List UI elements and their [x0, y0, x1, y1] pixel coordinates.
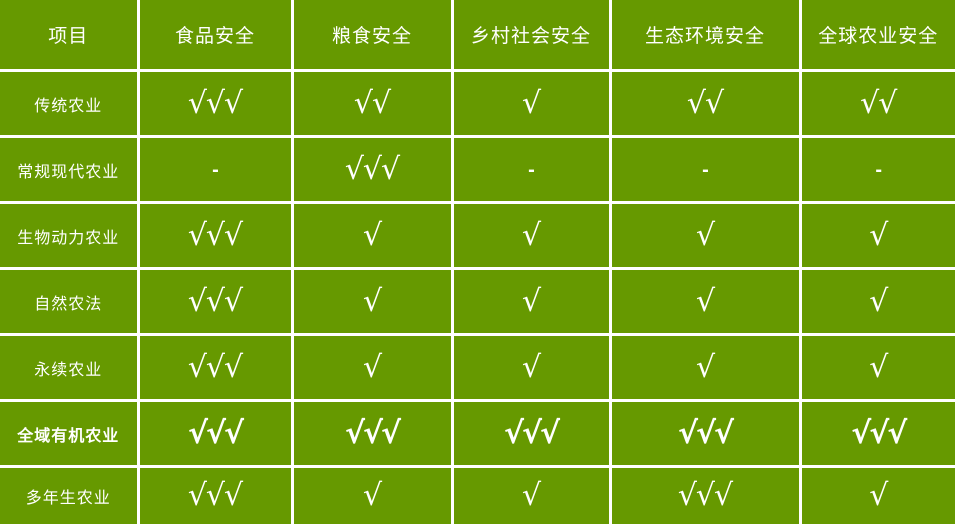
rating-cell: √: [800, 467, 955, 524]
rating-cell: √: [800, 269, 955, 335]
table-header: 项目 食品安全 粮食安全 乡村社会安全 生态环境安全 全球农业安全: [0, 0, 955, 71]
rating-cell: √: [452, 467, 610, 524]
rating-cell: √√√: [610, 467, 800, 524]
rating-cell: √√√: [452, 401, 610, 467]
rating-cell: √√√: [138, 467, 292, 524]
rating-cell: √√√: [138, 203, 292, 269]
table-row: 自然农法√√√√√√√: [0, 269, 955, 335]
rating-cell: √: [292, 335, 452, 401]
agriculture-security-comparison-table: 项目 食品安全 粮食安全 乡村社会安全 生态环境安全 全球农业安全 传统农业√√…: [0, 0, 955, 524]
rating-cell: -: [138, 137, 292, 203]
table-row: 全域有机农业√√√√√√√√√√√√√√√: [0, 401, 955, 467]
column-header-item: 项目: [0, 0, 138, 71]
table-body: 传统农业√√√√√√√√√√常规现代农业-√√√---生物动力农业√√√√√√√…: [0, 71, 955, 524]
rating-cell: √: [800, 203, 955, 269]
rating-cell: √√√: [138, 335, 292, 401]
rating-cell: √√√: [800, 401, 955, 467]
table-row: 传统农业√√√√√√√√√√: [0, 71, 955, 137]
column-header-grain-security: 粮食安全: [292, 0, 452, 71]
rating-cell: √: [452, 335, 610, 401]
rating-cell: √√√: [292, 401, 452, 467]
column-header-rural-social-security: 乡村社会安全: [452, 0, 610, 71]
row-label: 自然农法: [0, 269, 138, 335]
header-row: 项目 食品安全 粮食安全 乡村社会安全 生态环境安全 全球农业安全: [0, 0, 955, 71]
row-label: 多年生农业: [0, 467, 138, 524]
rating-cell: √: [292, 269, 452, 335]
rating-cell: -: [452, 137, 610, 203]
rating-cell: -: [610, 137, 800, 203]
column-header-eco-environment-security: 生态环境安全: [610, 0, 800, 71]
rating-cell: √: [610, 335, 800, 401]
rating-cell: √√√: [292, 137, 452, 203]
column-header-global-agriculture-security: 全球农业安全: [800, 0, 955, 71]
rating-cell: √: [610, 203, 800, 269]
row-label: 生物动力农业: [0, 203, 138, 269]
row-label: 常规现代农业: [0, 137, 138, 203]
table-row: 多年生农业√√√√√√√√√: [0, 467, 955, 524]
rating-cell: √√: [610, 71, 800, 137]
rating-cell: √: [800, 335, 955, 401]
rating-cell: √: [292, 203, 452, 269]
rating-cell: √: [610, 269, 800, 335]
table-row: 永续农业√√√√√√√: [0, 335, 955, 401]
rating-cell: √: [452, 71, 610, 137]
rating-cell: √√: [800, 71, 955, 137]
rating-cell: √√√: [610, 401, 800, 467]
row-label: 传统农业: [0, 71, 138, 137]
rating-cell: √: [452, 269, 610, 335]
rating-cell: √√√: [138, 401, 292, 467]
row-label: 永续农业: [0, 335, 138, 401]
rating-cell: √: [452, 203, 610, 269]
rating-cell: √√√: [138, 269, 292, 335]
table-row: 生物动力农业√√√√√√√: [0, 203, 955, 269]
row-label: 全域有机农业: [0, 401, 138, 467]
table-row: 常规现代农业-√√√---: [0, 137, 955, 203]
column-header-food-safety: 食品安全: [138, 0, 292, 71]
rating-cell: √: [292, 467, 452, 524]
rating-cell: √√: [292, 71, 452, 137]
rating-cell: √√√: [138, 71, 292, 137]
rating-cell: -: [800, 137, 955, 203]
